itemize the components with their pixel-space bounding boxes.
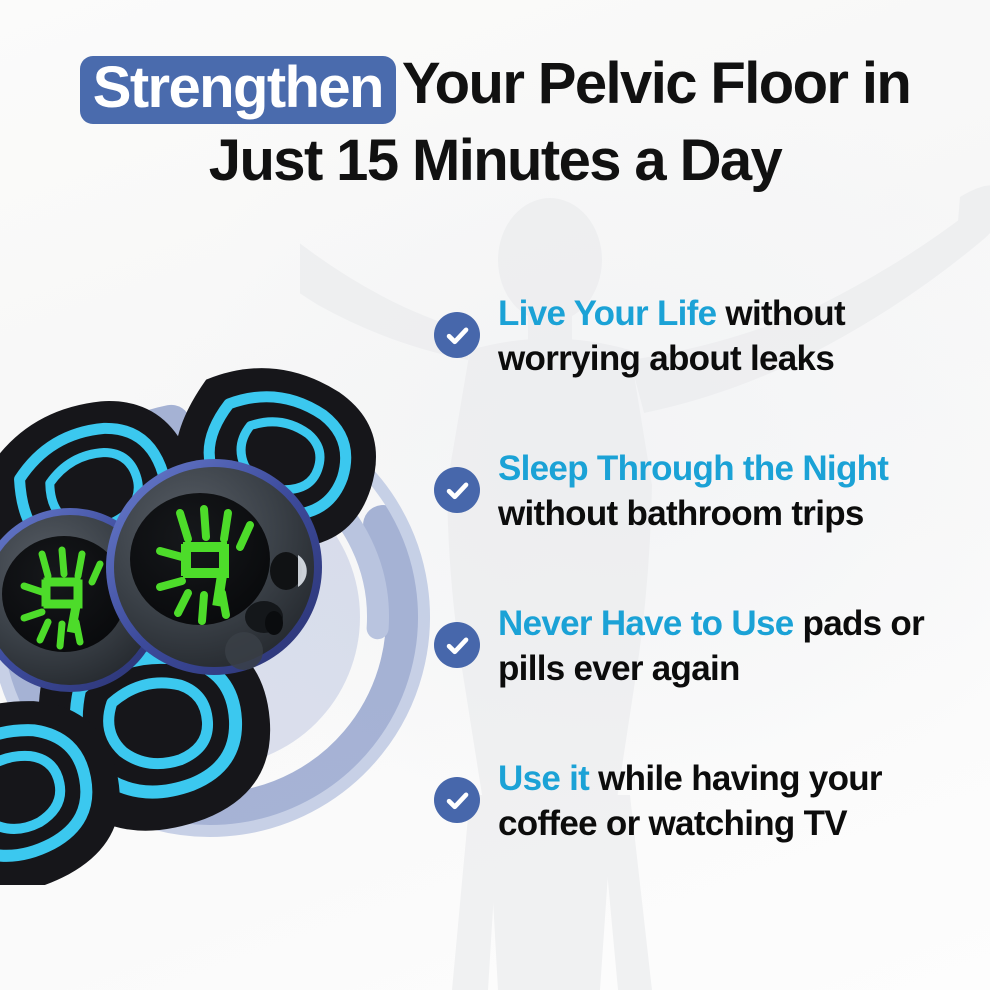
list-item: Use it while having your coffee or watch… <box>430 757 978 853</box>
check-circle-icon <box>434 777 480 823</box>
headline-line-1: StrengthenYour Pelvic Floor in <box>24 52 966 120</box>
list-item: Sleep Through the Night without bathroom… <box>430 447 978 543</box>
benefit-accent: Use it <box>498 759 589 798</box>
intensity-button <box>225 632 263 670</box>
benefits-list: Live Your Life without worrying about le… <box>430 292 978 853</box>
benefit-accent: Live Your Life <box>498 294 716 333</box>
benefit-text: Sleep Through the Night without bathroom… <box>498 447 978 537</box>
headline-highlight-chip: Strengthen <box>80 56 396 124</box>
benefit-rest: without bathroom trips <box>498 494 864 533</box>
benefit-text: Never Have to Use pads or pills ever aga… <box>498 602 978 692</box>
check-circle-icon <box>434 622 480 668</box>
page-title: StrengthenYour Pelvic Floor in Just 15 M… <box>0 52 990 190</box>
list-item: Live Your Life without worrying about le… <box>430 292 978 388</box>
check-circle-icon <box>434 467 480 513</box>
benefit-accent: Never Have to Use <box>498 604 793 643</box>
check-circle-icon <box>434 312 480 358</box>
power-button <box>270 552 302 590</box>
headline-line-1-rest: Your Pelvic Floor in <box>402 51 910 116</box>
benefit-accent: Sleep Through the Night <box>498 449 888 488</box>
headline-line-2: Just 15 Minutes a Day <box>24 131 966 190</box>
product-image-ems-stimulator <box>0 355 448 885</box>
benefit-text: Use it while having your coffee or watch… <box>498 757 978 847</box>
round-led-controller <box>106 459 322 675</box>
list-item: Never Have to Use pads or pills ever aga… <box>430 602 978 698</box>
benefit-text: Live Your Life without worrying about le… <box>498 292 978 382</box>
promo-infographic: StrengthenYour Pelvic Floor in Just 15 M… <box>0 0 990 990</box>
